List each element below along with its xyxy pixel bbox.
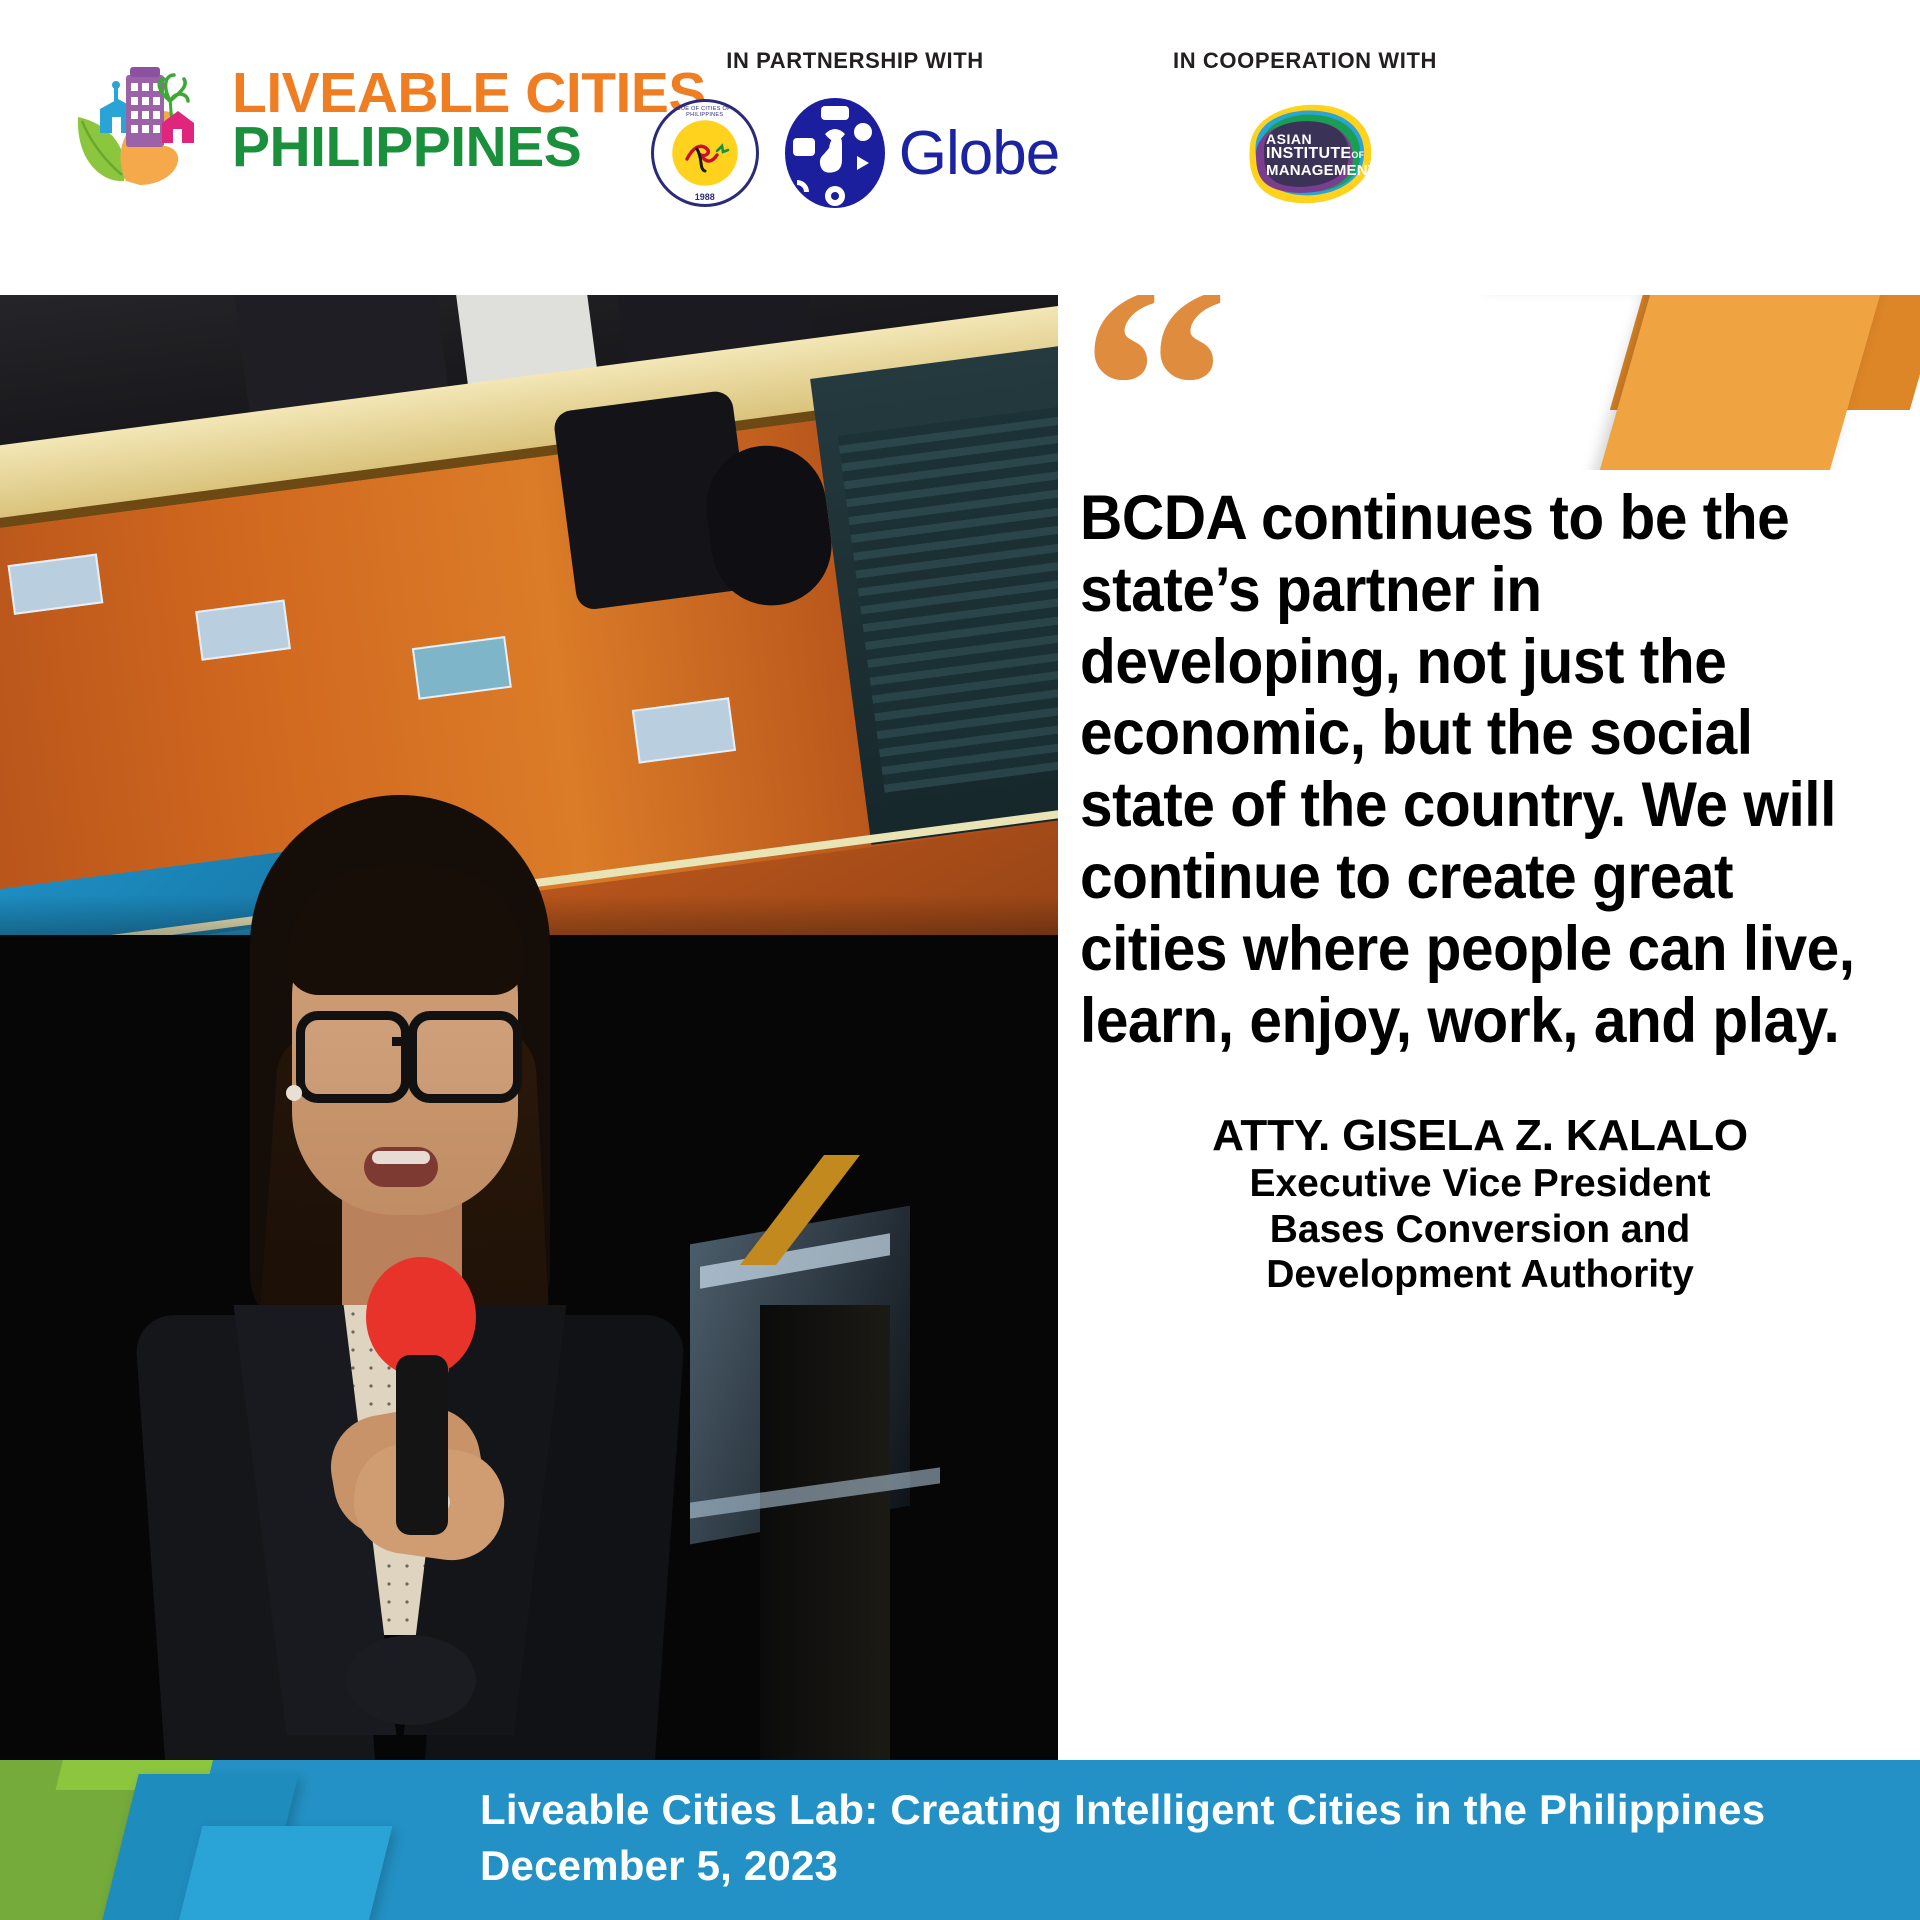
asian-institute-of-management-logo-icon[interactable]: ASIAN INSTITUTEOF MANAGEMENT	[1230, 98, 1380, 208]
brand-lockup[interactable]: LIVEABLE CITIES PHILIPPINES	[70, 55, 706, 185]
footer-text: Liveable Cities Lab: Creating Intelligen…	[480, 1782, 1765, 1895]
attribution-name: ATTY. GISELA Z. KALALO	[1080, 1110, 1880, 1161]
aim-of: OF	[1351, 150, 1364, 160]
cooperation-logos: ASIAN INSTITUTEOF MANAGEMENT	[1230, 98, 1380, 208]
quote-text: BCDA continues to be the state’s partner…	[1080, 483, 1876, 1058]
footer-event-title: Liveable Cities Lab: Creating Intelligen…	[480, 1782, 1765, 1838]
footer-banner: Liveable Cities Lab: Creating Intelligen…	[0, 1760, 1920, 1920]
lcp-year: 1988	[654, 192, 756, 202]
footer-date: December 5, 2023	[480, 1838, 1765, 1894]
partnership-group: IN PARTNERSHIP WITH LEAGUE OF CITIES OF …	[620, 48, 1090, 208]
speaker-photo	[0, 295, 1058, 1760]
globe-lockup[interactable]: Globe	[785, 98, 1059, 208]
aim-line-3: MANAGEMENT	[1266, 163, 1377, 178]
quote-column: “ BCDA continues to be the state’s partn…	[1080, 295, 1880, 1298]
aim-line-1: ASIAN	[1266, 132, 1377, 146]
attribution-org-line-2: Development Authority	[1080, 1252, 1880, 1298]
league-of-cities-of-the-philippines-logo-icon[interactable]: LEAGUE OF CITIES OF THE PHILIPPINES 1988	[651, 99, 759, 207]
poster-canvas: LIVEABLE CITIES PHILIPPINES IN PARTNERSH…	[0, 0, 1920, 1920]
attribution-block: ATTY. GISELA Z. KALALO Executive Vice Pr…	[1080, 1110, 1880, 1298]
partnership-label: IN PARTNERSHIP WITH	[726, 48, 983, 74]
aim-line-2: INSTITUTE	[1266, 145, 1351, 162]
aim-line-2-wrap: INSTITUTEOF	[1266, 146, 1377, 162]
cooperation-label: IN COOPERATION WITH	[1173, 48, 1437, 74]
lcp-sun	[668, 116, 742, 190]
header: LIVEABLE CITIES PHILIPPINES IN PARTNERSH…	[0, 0, 1920, 295]
quote-open-mark: “	[1080, 295, 1880, 445]
aim-wordmark: ASIAN INSTITUTEOF MANAGEMENT	[1266, 132, 1377, 178]
attribution-role: Executive Vice President	[1080, 1161, 1880, 1207]
liveable-cities-logo-icon	[70, 55, 210, 185]
globe-wordmark: Globe	[899, 118, 1059, 189]
footer-shape-blue-light	[178, 1826, 393, 1920]
partnership-logos: LEAGUE OF CITIES OF THE PHILIPPINES 1988	[651, 98, 1059, 208]
globe-logo-icon	[785, 98, 885, 208]
cooperation-group: IN COOPERATION WITH ASIAN INSTITUTEOF	[1130, 48, 1480, 208]
attribution-org-line-1: Bases Conversion and	[1080, 1207, 1880, 1253]
